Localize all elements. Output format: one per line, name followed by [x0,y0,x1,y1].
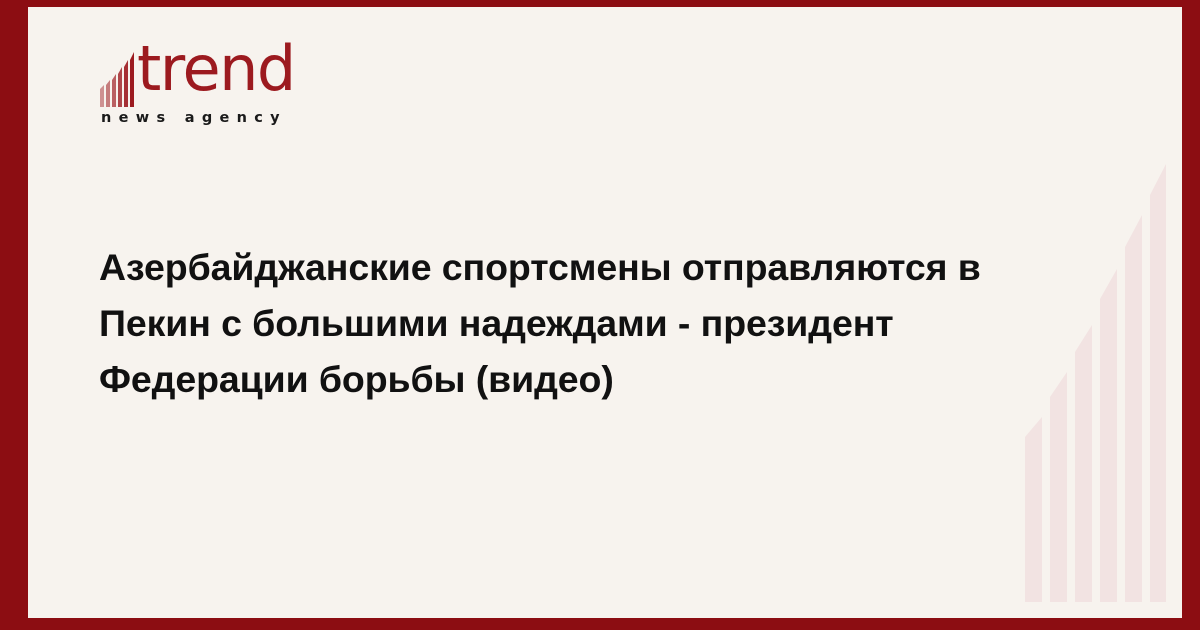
logo-wordmark: trend [137,38,295,100]
card-canvas: trend news agency Азербайджанские спортс… [28,7,1182,618]
headline-line-3: Федерации борьбы (видео) [99,358,614,400]
ascending-bars-decoration [1016,7,1166,618]
deco-bar-1 [1025,417,1042,602]
logo-tagline: news agency [101,111,287,126]
deco-bar-2 [1050,372,1067,602]
headline-line-2: Пекин с большими надеждами - президент [99,302,894,344]
share-card: trend news agency Азербайджанские спортс… [0,0,1200,630]
trend-logo[interactable]: trend news agency [99,45,339,137]
ascending-bars-svg [1016,7,1166,618]
headline-line-1: Азербайджанские спортсмены отправляются … [99,246,981,288]
deco-bar-3 [1075,325,1092,602]
deco-bar-4 [1100,269,1117,602]
deco-bar-6 [1150,162,1166,602]
deco-bar-5 [1125,215,1142,602]
article-headline: Азербайджанские спортсмены отправляются … [99,239,1004,407]
